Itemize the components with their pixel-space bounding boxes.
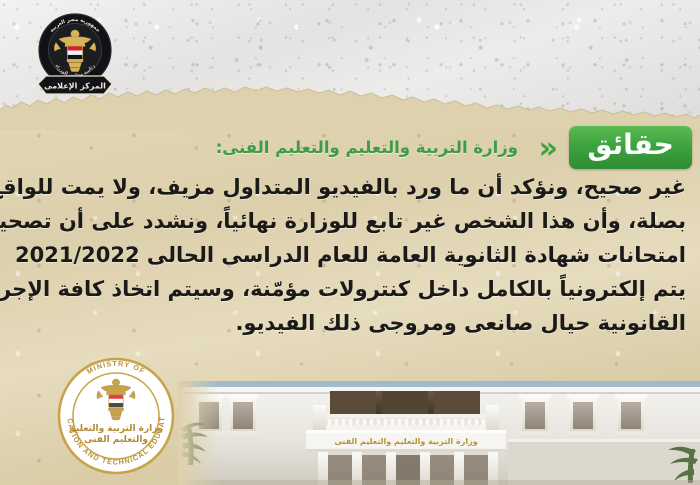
- ministry-of-education-seal: MINISTRY OF EDUCATION AND TECHNICAL EDUC…: [57, 357, 175, 475]
- cabinet-media-center-logo: جمهورية مصر العربية رئاسة مجلس الوزراء ا…: [26, 6, 124, 104]
- seal-inner-text-line-1: وزارة التربية والتعليم: [69, 424, 163, 434]
- facts-badge: حقائق: [569, 126, 692, 169]
- cabinet-logo-ribbon-text: المركز الإعلامى: [44, 81, 106, 90]
- facts-body-line-3: امتحانات شهادة الثانوية العامة للعام الد…: [14, 238, 686, 272]
- facts-body-line-4: يتم إلكترونياً بالكامل داخل كنترولات مؤم…: [14, 272, 686, 306]
- facts-source-label: وزارة التربية والتعليم والتعليم الفنى:: [216, 138, 518, 157]
- infographic-poster: جمهورية مصر العربية رئاسة مجلس الوزراء ا…: [0, 0, 700, 485]
- facts-body-line-5: القانونية حيال صانعى ومروجى ذلك الفيديو.: [14, 306, 686, 340]
- seal-inner-text-line-2: والتعليم الفنى: [84, 435, 148, 445]
- facts-body-text: غير صحيح، ونؤكد أن ما ورد بالفيديو المتد…: [14, 170, 686, 340]
- building-facade-caption: وزارة التربية والتعليم والتعليم الفنى: [334, 437, 477, 446]
- ministry-of-education-building-photo: وزارة التربية والتعليم والتعليم الفنى: [178, 381, 700, 485]
- facts-chevron-icon: «: [539, 134, 558, 164]
- facts-body-line-2: بصلة، وأن هذا الشخص غير تابع للوزارة نها…: [14, 204, 686, 238]
- facts-body-line-1: غير صحيح، ونؤكد أن ما ورد بالفيديو المتد…: [14, 170, 686, 204]
